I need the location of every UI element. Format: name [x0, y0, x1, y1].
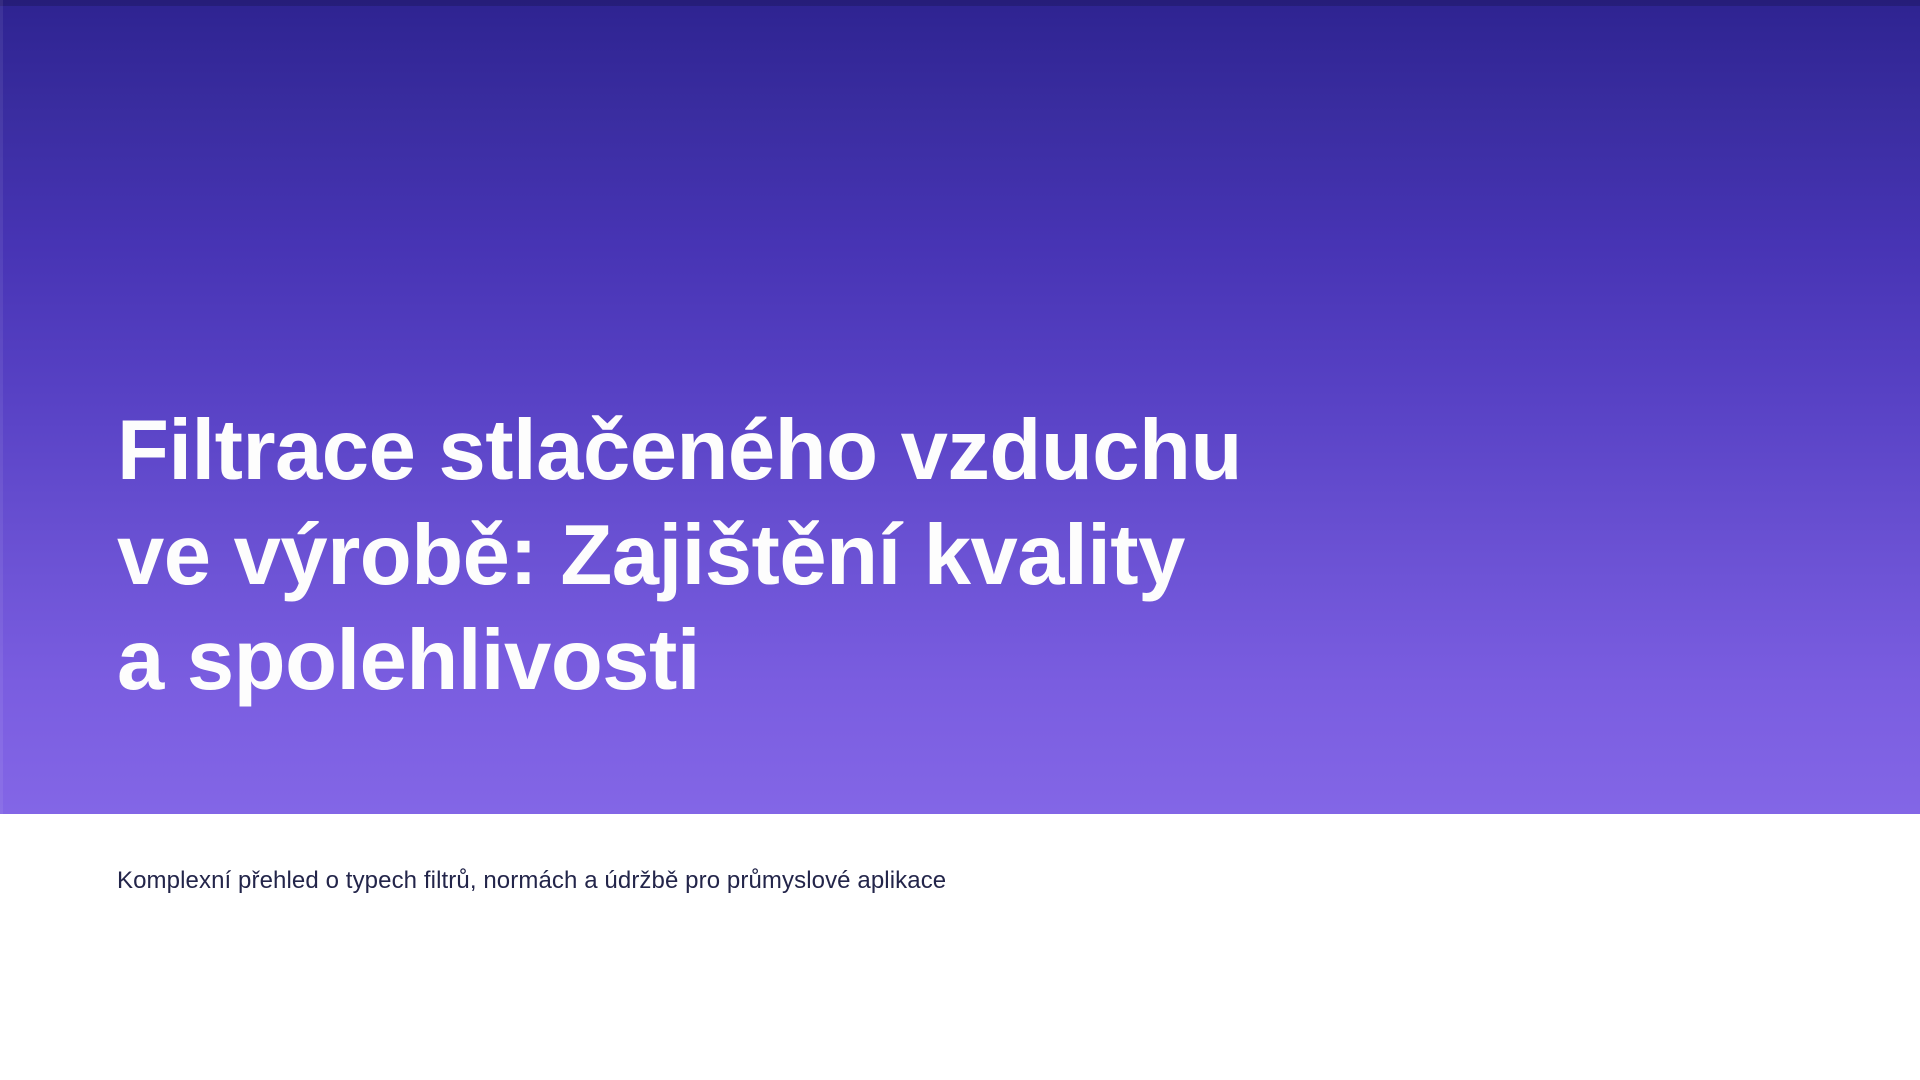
hero-gradient-banner: Filtrace stlačeného vzduchu ve výrobě: Z… — [0, 0, 1920, 814]
hero-top-edge-shade — [0, 0, 1920, 6]
slide-subtitle: Komplexní přehled o typech filtrů, normá… — [117, 864, 946, 898]
slide-title: Filtrace stlačeného vzduchu ve výrobě: Z… — [117, 398, 1277, 713]
hero-left-edge-highlight — [0, 0, 3, 814]
title-slide: Filtrace stlačeného vzduchu ve výrobě: Z… — [0, 0, 1920, 1080]
title-block: Filtrace stlačeného vzduchu ve výrobě: Z… — [117, 398, 1277, 713]
subtitle-area: Komplexní přehled o typech filtrů, normá… — [0, 814, 1920, 1080]
